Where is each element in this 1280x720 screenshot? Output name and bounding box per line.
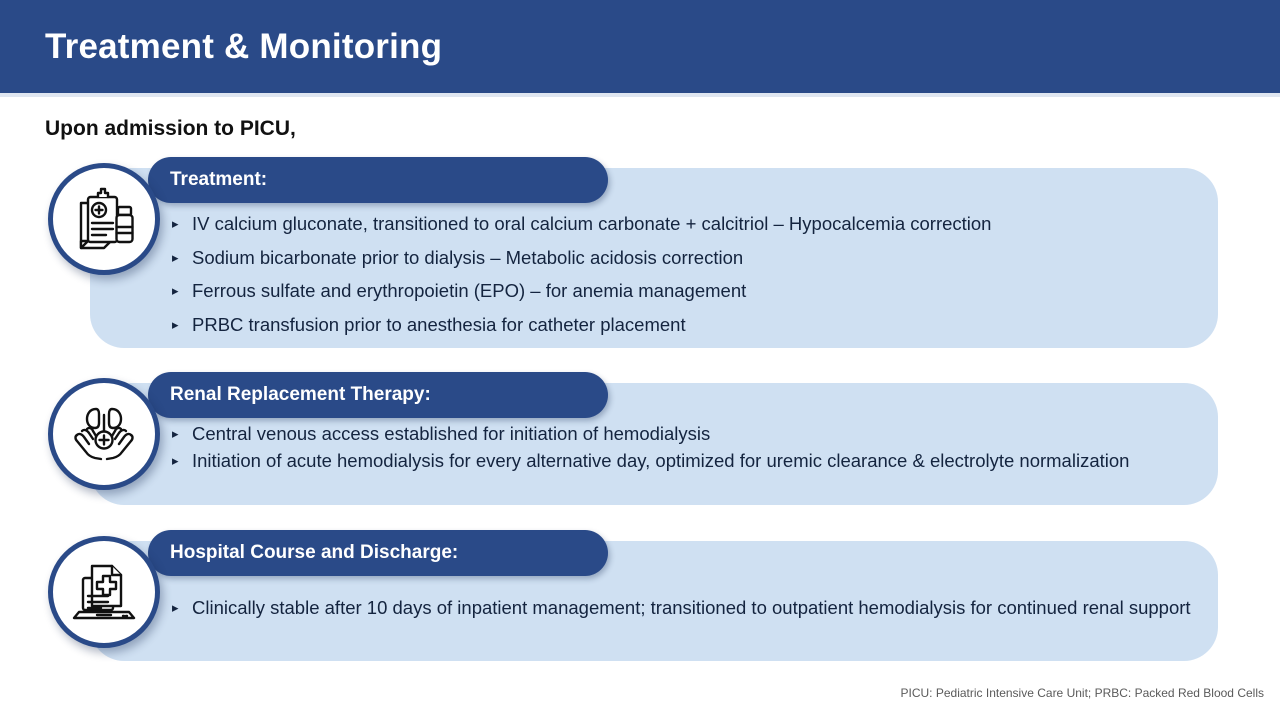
list-item-text: Central venous access established for in…	[192, 423, 710, 444]
laptop-medical-record-icon	[48, 536, 160, 648]
bullet-list: ▸ Central venous access established for …	[172, 421, 1240, 474]
list-item: ▸ Sodium bicarbonate prior to dialysis –…	[172, 241, 1240, 275]
list-item-text: Sodium bicarbonate prior to dialysis – M…	[192, 247, 743, 268]
list-item-text: IV calcium gluconate, transitioned to or…	[192, 213, 991, 234]
section-header-pill: Renal Replacement Therapy:	[148, 372, 608, 418]
page-title: Treatment & Monitoring	[45, 27, 442, 67]
list-item-text: PRBC transfusion prior to anesthesia for…	[192, 314, 686, 335]
bullet-list: ▸ Clinically stable after 10 days of inp…	[172, 591, 1240, 625]
abbreviations-footnote: PICU: Pediatric Intensive Care Unit; PRB…	[901, 686, 1265, 700]
bullet-marker: ▸	[172, 448, 179, 475]
bullet-marker: ▸	[172, 591, 179, 625]
bullet-marker: ▸	[172, 241, 179, 275]
section-header-pill: Hospital Course and Discharge:	[148, 530, 608, 576]
section-title: Treatment:	[170, 157, 267, 203]
section-subtitle: Upon admission to PICU,	[45, 117, 296, 141]
section-header-pill: Treatment:	[148, 157, 608, 203]
list-item: ▸ PRBC transfusion prior to anesthesia f…	[172, 308, 1240, 342]
bullet-marker: ▸	[172, 274, 179, 308]
list-item-text: Clinically stable after 10 days of inpat…	[192, 597, 1191, 618]
section-title: Hospital Course and Discharge:	[170, 530, 458, 576]
slide-header-bar: Treatment & Monitoring	[0, 0, 1280, 93]
list-item: ▸ Clinically stable after 10 days of inp…	[172, 591, 1240, 625]
list-item: ▸ Central venous access established for …	[172, 421, 1240, 448]
bullet-marker: ▸	[172, 308, 179, 342]
list-item: ▸ Ferrous sulfate and erythropoietin (EP…	[172, 274, 1240, 308]
hands-kidney-icon	[48, 378, 160, 490]
header-divider	[0, 93, 1280, 97]
bullet-marker: ▸	[172, 421, 179, 448]
bullet-list: ▸ IV calcium gluconate, transitioned to …	[172, 207, 1240, 341]
clipboard-vial-icon	[48, 163, 160, 275]
list-item-text: Ferrous sulfate and erythropoietin (EPO)…	[192, 280, 746, 301]
list-item-text: Initiation of acute hemodialysis for eve…	[192, 450, 1129, 471]
list-item: ▸ IV calcium gluconate, transitioned to …	[172, 207, 1240, 241]
section-title: Renal Replacement Therapy:	[170, 372, 431, 418]
list-item: ▸ Initiation of acute hemodialysis for e…	[172, 448, 1240, 475]
bullet-marker: ▸	[172, 207, 179, 241]
